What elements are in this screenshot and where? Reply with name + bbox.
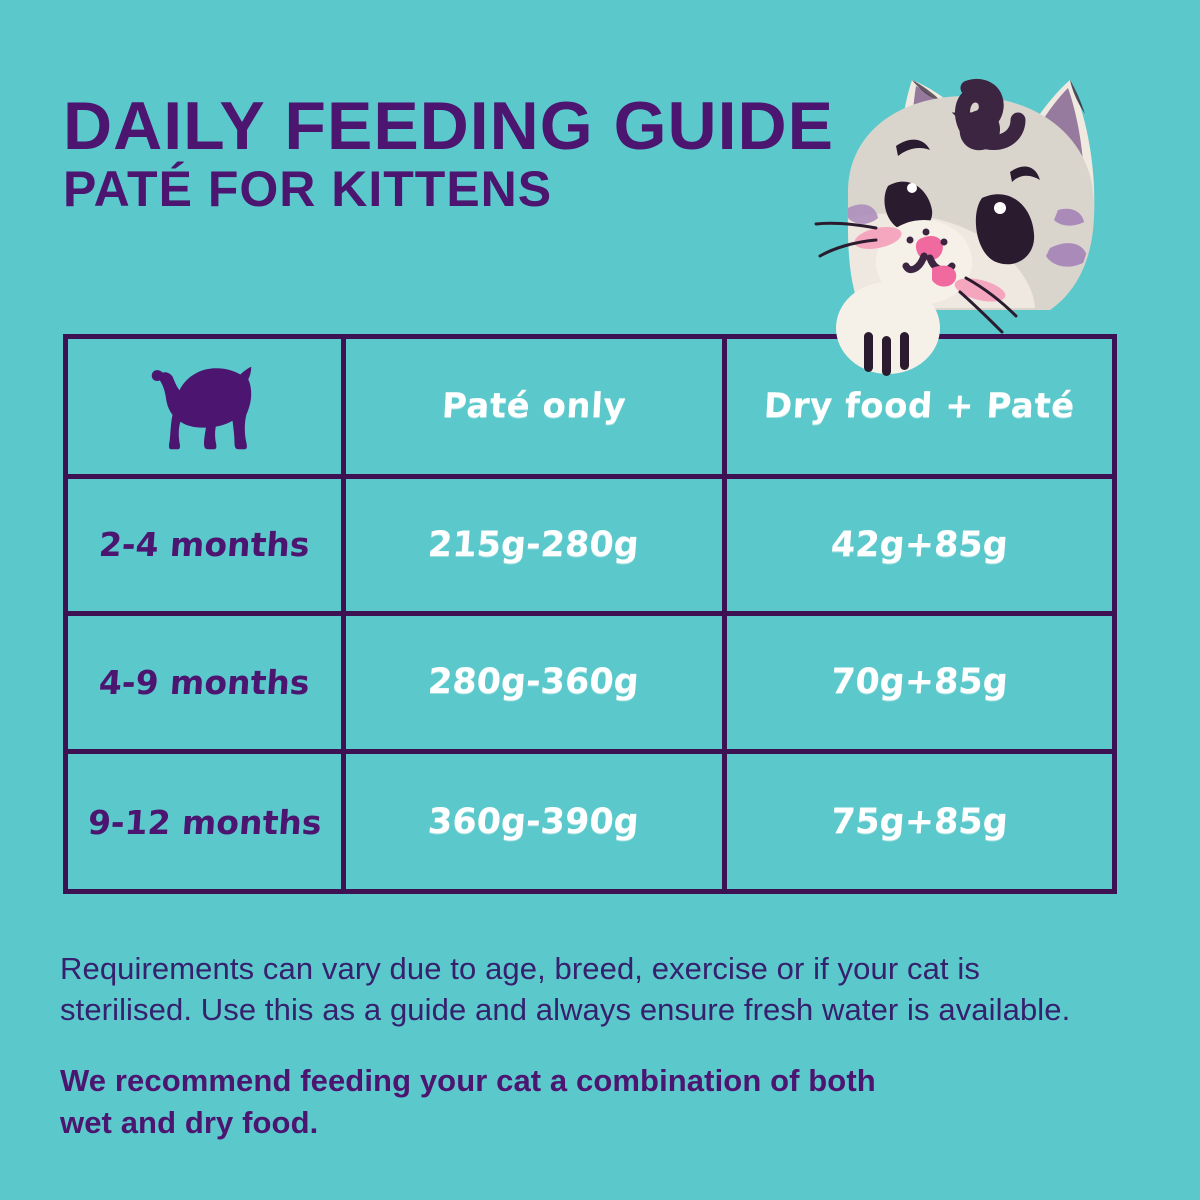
pate-only-amount: 360g-390g	[427, 802, 641, 842]
table-header-cell-pate-only: Paté only	[346, 339, 727, 479]
cat-stripe	[846, 204, 878, 224]
table-row: 2-4 months 215g-280g 42g+85g	[68, 479, 1112, 617]
table-row: 9-12 months 360g-390g 75g+85g	[68, 754, 1112, 892]
table-header-cell-icon	[68, 339, 346, 479]
table-cell-age: 9-12 months	[68, 754, 346, 892]
cat-peeking-illustration	[820, 40, 1160, 360]
dry-plus-pate-amount: 75g+85g	[830, 802, 1010, 842]
table-header-label-pate-only: Paté only	[441, 386, 627, 426]
cat-right-brow	[1010, 166, 1040, 182]
age-range-label: 4-9 months	[98, 663, 311, 702]
note-secondary-line2: wet and dry food.	[60, 1102, 1120, 1143]
cat-silhouette-icon	[145, 358, 263, 454]
page-title: DAILY FEEDING GUIDE	[63, 95, 834, 158]
cat-muzzle	[876, 220, 972, 304]
note-primary: Requirements can vary due to age, breed,…	[60, 948, 1120, 1030]
cat-stripe	[1046, 243, 1088, 267]
cat-right-ear	[1025, 80, 1094, 215]
table-cell-pate-only: 360g-390g	[346, 754, 727, 892]
cat-right-eye	[976, 194, 1034, 264]
table-row: 4-9 months 280g-360g 70g+85g	[68, 616, 1112, 754]
table-header-label-dry-plus-pate: Dry food + Paté	[763, 386, 1076, 426]
cat-left-ear	[900, 80, 972, 172]
page-title-block: DAILY FEEDING GUIDE PATÉ FOR KITTENS	[63, 95, 834, 214]
dry-plus-pate-amount: 70g+85g	[830, 662, 1010, 702]
table-header-cell-dry-plus-pate: Dry food + Paté	[727, 339, 1112, 479]
cat-tongue	[932, 266, 956, 287]
table-cell-dry-plus-pate: 75g+85g	[727, 754, 1112, 892]
table-cell-age: 2-4 months	[68, 479, 346, 617]
footer-notes: Requirements can vary due to age, breed,…	[60, 948, 1120, 1143]
note-primary-line2: sterilised. Use this as a guide and alwa…	[60, 989, 1120, 1030]
dry-plus-pate-amount: 42g+85g	[830, 525, 1010, 565]
pate-only-amount: 215g-280g	[427, 525, 641, 565]
table-cell-dry-plus-pate: 70g+85g	[727, 616, 1112, 754]
table-cell-dry-plus-pate: 42g+85g	[727, 479, 1112, 617]
note-secondary-line1: We recommend feeding your cat a combinat…	[60, 1060, 1120, 1101]
cat-whiskers	[816, 223, 1016, 332]
cat-nose	[916, 236, 943, 261]
pate-only-amount: 280g-360g	[427, 662, 641, 702]
note-primary-line1: Requirements can vary due to age, breed,…	[60, 948, 1120, 989]
cat-left-eye	[884, 182, 932, 232]
table-cell-age: 4-9 months	[68, 616, 346, 754]
table-header-row: Paté only Dry food + Paté	[68, 339, 1112, 479]
cat-head	[848, 96, 1094, 310]
page-subtitle: PATÉ FOR KITTENS	[63, 164, 834, 214]
cat-stripe	[1054, 209, 1084, 226]
table-cell-pate-only: 215g-280g	[346, 479, 727, 617]
feeding-table: Paté only Dry food + Paté 2-4 months 215…	[63, 334, 1117, 894]
age-range-label: 9-12 months	[86, 803, 322, 842]
age-range-label: 2-4 months	[98, 525, 311, 564]
table-cell-pate-only: 280g-360g	[346, 616, 727, 754]
note-secondary: We recommend feeding your cat a combinat…	[60, 1060, 1120, 1142]
cat-left-brow	[896, 140, 930, 156]
